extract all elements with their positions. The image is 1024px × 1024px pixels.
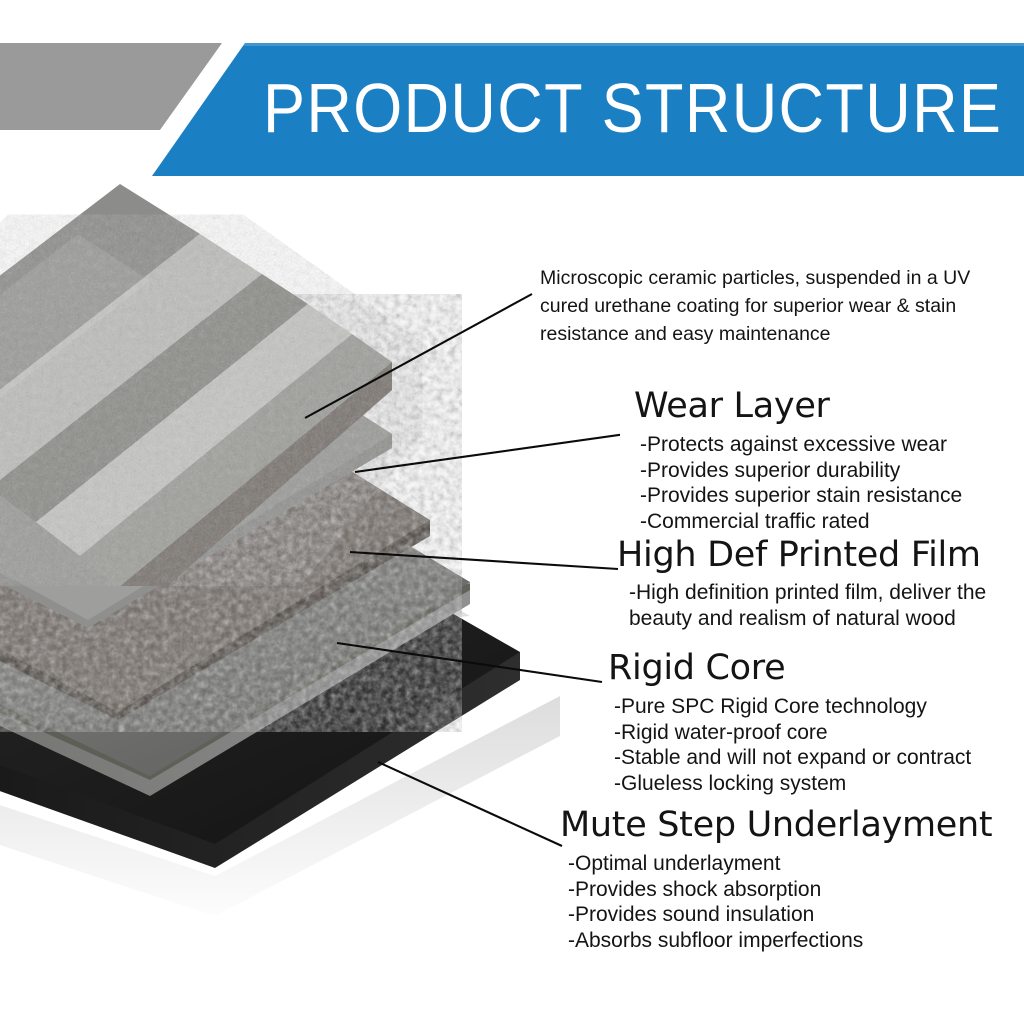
- bullet-item: -Rigid water-proof core: [614, 720, 971, 746]
- annotation-underlayment: Mute Step Underlayment -Optimal underlay…: [560, 805, 992, 953]
- bullet-item: beauty and realism of natural wood: [629, 606, 986, 632]
- bullet-item: -Provides superior stain resistance: [640, 483, 962, 509]
- bullet-item: -Absorbs subfloor imperfections: [568, 928, 992, 954]
- bullet-item: -Pure SPC Rigid Core technology: [614, 694, 971, 720]
- bullet-item: -Stable and will not expand or contract: [614, 745, 971, 771]
- banner-gray-parallelogram: [0, 43, 222, 130]
- annotation-wear-layer: Wear Layer -Protects against excessive w…: [634, 386, 962, 534]
- bullet-item: -Provides sound insulation: [568, 902, 992, 928]
- header-banner: PRODUCT STRUCTURE: [0, 0, 1024, 190]
- page-title: PRODUCT STRUCTURE: [263, 60, 947, 160]
- annotation-rigid-core: Rigid Core -Pure SPC Rigid Core technolo…: [608, 648, 971, 796]
- annotation-uv-coating-line-2: cured urethane coating for superior wear…: [540, 292, 1010, 320]
- annotation-printed-film-title: High Def Printed Film: [617, 535, 986, 576]
- bullet-item: -High definition printed film, deliver t…: [629, 580, 986, 606]
- annotation-printed-film-bullets: -High definition printed film, deliver t…: [629, 580, 986, 631]
- annotation-rigid-core-bullets: -Pure SPC Rigid Core technology -Rigid w…: [614, 694, 971, 796]
- bullet-item: -Provides shock absorption: [568, 877, 992, 903]
- annotation-wear-layer-title: Wear Layer: [634, 386, 962, 427]
- bullet-item: -Glueless locking system: [614, 771, 971, 797]
- annotation-rigid-core-title: Rigid Core: [608, 648, 971, 689]
- annotation-wear-layer-bullets: -Protects against excessive wear -Provid…: [640, 432, 962, 534]
- annotation-underlayment-bullets: -Optimal underlayment -Provides shock ab…: [568, 851, 992, 953]
- exploded-layer-stack: [0, 176, 620, 936]
- leader-line-wear-layer: [355, 434, 620, 472]
- annotation-uv-coating: Microscopic ceramic particles, suspended…: [540, 264, 1010, 348]
- annotation-uv-coating-line-1: Microscopic ceramic particles, suspended…: [540, 264, 1010, 292]
- bullet-item: -Commercial traffic rated: [640, 509, 962, 535]
- bullet-item: -Optimal underlayment: [568, 851, 992, 877]
- banner-top-highlight: [243, 43, 1024, 46]
- annotation-uv-coating-line-3: resistance and easy maintenance: [540, 320, 1010, 348]
- bullet-item: -Protects against excessive wear: [640, 432, 962, 458]
- product-structure-infographic: PRODUCT STRUCTURE: [0, 0, 1024, 1024]
- bullet-item: -Provides superior durability: [640, 458, 962, 484]
- annotation-printed-film: High Def Printed Film -High definition p…: [617, 535, 986, 631]
- annotation-underlayment-title: Mute Step Underlayment: [560, 805, 992, 846]
